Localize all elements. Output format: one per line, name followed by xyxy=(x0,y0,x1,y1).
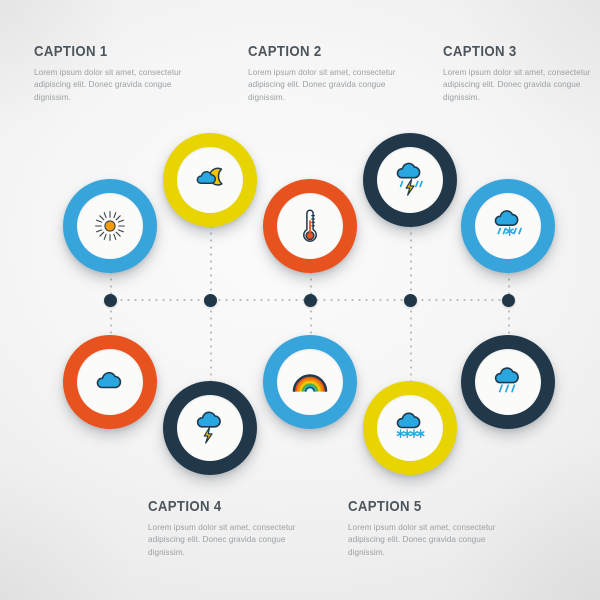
caption-body-5: Lorem ipsum dolor sit amet, consectetur … xyxy=(348,522,498,559)
badge-inner-6 xyxy=(77,349,143,415)
rainbow-icon xyxy=(292,371,328,393)
cloud-sleet-icon xyxy=(490,209,526,243)
caption-block-5: CAPTION 5 Lorem ipsum dolor sit amet, co… xyxy=(348,498,498,559)
caption-block-2: CAPTION 2 Lorem ipsum dolor sit amet, co… xyxy=(248,43,398,104)
badge-inner-7 xyxy=(177,395,243,461)
badge-top-3[interactable] xyxy=(263,179,357,273)
caption-body-3: Lorem ipsum dolor sit amet, consectetur … xyxy=(443,67,593,104)
caption-title-4: CAPTION 4 xyxy=(148,498,280,515)
caption-block-1: CAPTION 1 Lorem ipsum dolor sit amet, co… xyxy=(34,43,184,104)
badge-bottom-5[interactable] xyxy=(461,335,555,429)
badge-top-2[interactable] xyxy=(163,133,257,227)
caption-block-4: CAPTION 4 Lorem ipsum dolor sit amet, co… xyxy=(148,498,298,559)
badge-inner-10 xyxy=(475,349,541,415)
infographic-canvas: CAPTION 1 Lorem ipsum dolor sit amet, co… xyxy=(0,0,600,600)
cloud-lightning-icon xyxy=(193,411,227,445)
cloud-icon xyxy=(93,370,127,394)
badge-bottom-1[interactable] xyxy=(63,335,157,429)
caption-body-4: Lorem ipsum dolor sit amet, consectetur … xyxy=(148,522,298,559)
badge-inner-9 xyxy=(377,395,443,461)
badge-inner-5 xyxy=(475,193,541,259)
connector-down-2 xyxy=(210,301,212,384)
timeline-node-2[interactable] xyxy=(204,294,217,307)
badge-top-4[interactable] xyxy=(363,133,457,227)
badge-inner-2 xyxy=(177,147,243,213)
badge-inner-4 xyxy=(377,147,443,213)
badge-top-1[interactable] xyxy=(63,179,157,273)
timeline-node-4[interactable] xyxy=(404,294,417,307)
badge-bottom-3[interactable] xyxy=(263,335,357,429)
timeline-node-3[interactable] xyxy=(304,294,317,307)
timeline-node-5[interactable] xyxy=(502,294,515,307)
badge-inner-1 xyxy=(77,193,143,259)
timeline-node-1[interactable] xyxy=(104,294,117,307)
thermometer-icon xyxy=(300,208,320,244)
sun-icon xyxy=(93,209,127,243)
badge-inner-3 xyxy=(277,193,343,259)
caption-body-2: Lorem ipsum dolor sit amet, consectetur … xyxy=(248,67,398,104)
caption-title-3: CAPTION 3 xyxy=(443,43,575,60)
badge-inner-8 xyxy=(277,349,343,415)
badge-bottom-2[interactable] xyxy=(163,381,257,475)
connector-down-4 xyxy=(410,301,412,384)
connector-up-4 xyxy=(410,216,412,300)
cloud-snow-icon xyxy=(392,412,428,444)
cloud-moon-icon xyxy=(192,165,228,195)
caption-title-1: CAPTION 1 xyxy=(34,43,166,60)
connector-up-2 xyxy=(210,216,212,300)
cloud-lightning-rain-icon xyxy=(392,162,428,198)
caption-body-1: Lorem ipsum dolor sit amet, consectetur … xyxy=(34,67,184,104)
cloud-rain-icon xyxy=(491,367,525,397)
caption-title-2: CAPTION 2 xyxy=(248,43,380,60)
caption-block-3: CAPTION 3 Lorem ipsum dolor sit amet, co… xyxy=(443,43,593,104)
badge-bottom-4[interactable] xyxy=(363,381,457,475)
caption-title-5: CAPTION 5 xyxy=(348,498,480,515)
badge-top-5[interactable] xyxy=(461,179,555,273)
